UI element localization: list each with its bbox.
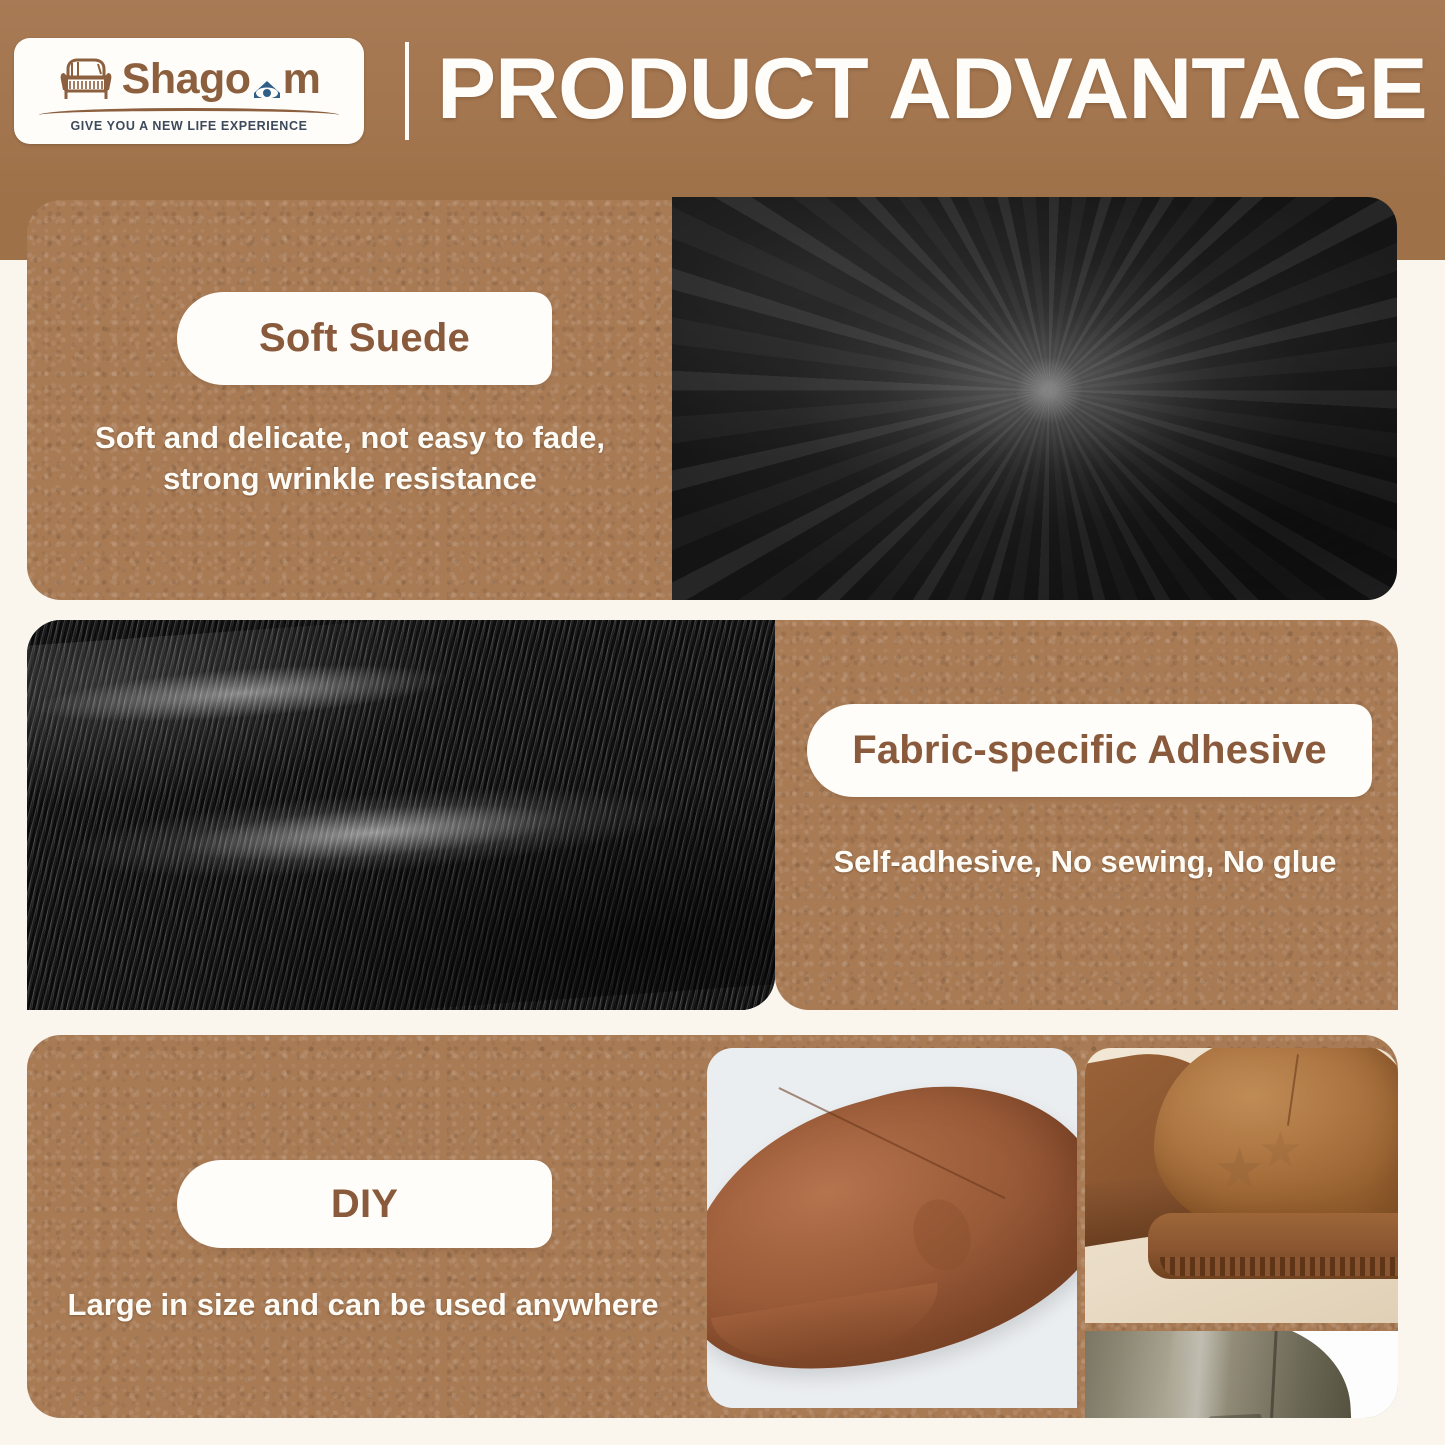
sofa-icon	[58, 57, 114, 103]
eye-icon	[252, 69, 282, 99]
logo-tagline: GIVE YOU A NEW LIFE EXPERIENCE	[70, 119, 307, 133]
boot-upper	[1154, 1048, 1398, 1235]
page-title: PRODUCT ADVANTAGE	[437, 33, 1427, 145]
logo-brand-text: Shago	[122, 58, 251, 101]
feature-card-soft-suede: Soft Suede Soft and delicate, not easy t…	[27, 200, 672, 600]
logo-wordmark: Shago m	[122, 58, 321, 101]
feature-card-diy: DIY Large in size and can be used anywhe…	[27, 1035, 1398, 1418]
infographic-page: Shago m GIVE YOU A NEW LIFE EXPERIENCE P…	[0, 0, 1445, 1445]
badge-label: Soft Suede	[259, 316, 470, 361]
image-black-suede-swirl	[672, 197, 1397, 600]
image-suede-platform-boot	[1085, 1048, 1398, 1323]
badge-label: DIY	[331, 1182, 398, 1227]
swirl-highlight	[672, 197, 1397, 600]
image-black-velvet-adhesive	[27, 620, 775, 1010]
badge-soft-suede: Soft Suede	[177, 292, 552, 385]
feature-description: Large in size and can be used anywhere	[43, 1285, 683, 1326]
badge-fabric-specific-adhesive: Fabric-specific Adhesive	[807, 704, 1372, 797]
header-divider	[405, 42, 409, 140]
feature-card-adhesive: Fabric-specific Adhesive Self-adhesive, …	[775, 620, 1398, 1010]
boot-tread	[1160, 1257, 1398, 1276]
logo-brand-tail: m	[283, 58, 321, 101]
feature-description: Self-adhesive, No sewing, No glue	[785, 842, 1385, 883]
image-olive-suede-fabric	[1085, 1331, 1398, 1418]
feature-description: Soft and delicate, not easy to fade, str…	[45, 418, 655, 500]
badge-label: Fabric-specific Adhesive	[852, 728, 1327, 773]
badge-diy: DIY	[177, 1160, 552, 1248]
image-suede-flat-cap	[707, 1048, 1077, 1408]
logo-row: Shago m	[58, 50, 321, 110]
velvet-fold-highlight	[27, 620, 775, 1010]
brand-logo: Shago m GIVE YOU A NEW LIFE EXPERIENCE	[14, 38, 364, 144]
